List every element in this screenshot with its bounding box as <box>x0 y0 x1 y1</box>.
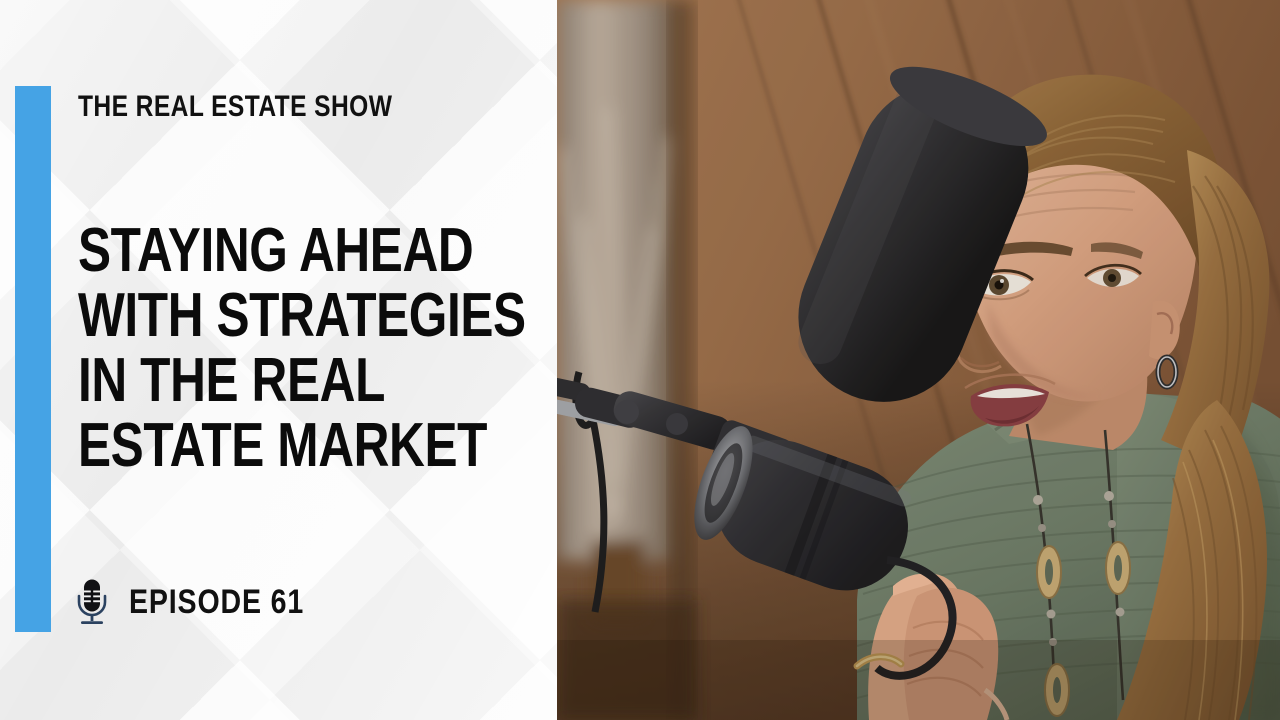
left-info-panel: THE REAL ESTATE SHOW STAYING AHEAD WITH … <box>0 0 557 720</box>
microphone-icon <box>75 578 109 626</box>
podcast-thumbnail: THE REAL ESTATE SHOW STAYING AHEAD WITH … <box>0 0 1280 720</box>
episode-label: EPISODE 61 <box>129 585 304 619</box>
episode-title-line-2: WITH STRATEGIES <box>78 283 454 348</box>
episode-title-line-4: ESTATE MARKET <box>78 413 454 478</box>
show-name: THE REAL ESTATE SHOW <box>78 92 392 122</box>
episode-badge: EPISODE 61 <box>75 578 337 626</box>
episode-title-line-1: STAYING AHEAD <box>78 218 454 283</box>
blue-accent-bar <box>15 86 51 632</box>
podcast-guest-photo <box>557 0 1280 720</box>
episode-title: STAYING AHEAD WITH STRATEGIES IN THE REA… <box>78 218 548 478</box>
episode-title-line-3: IN THE REAL <box>78 348 454 413</box>
